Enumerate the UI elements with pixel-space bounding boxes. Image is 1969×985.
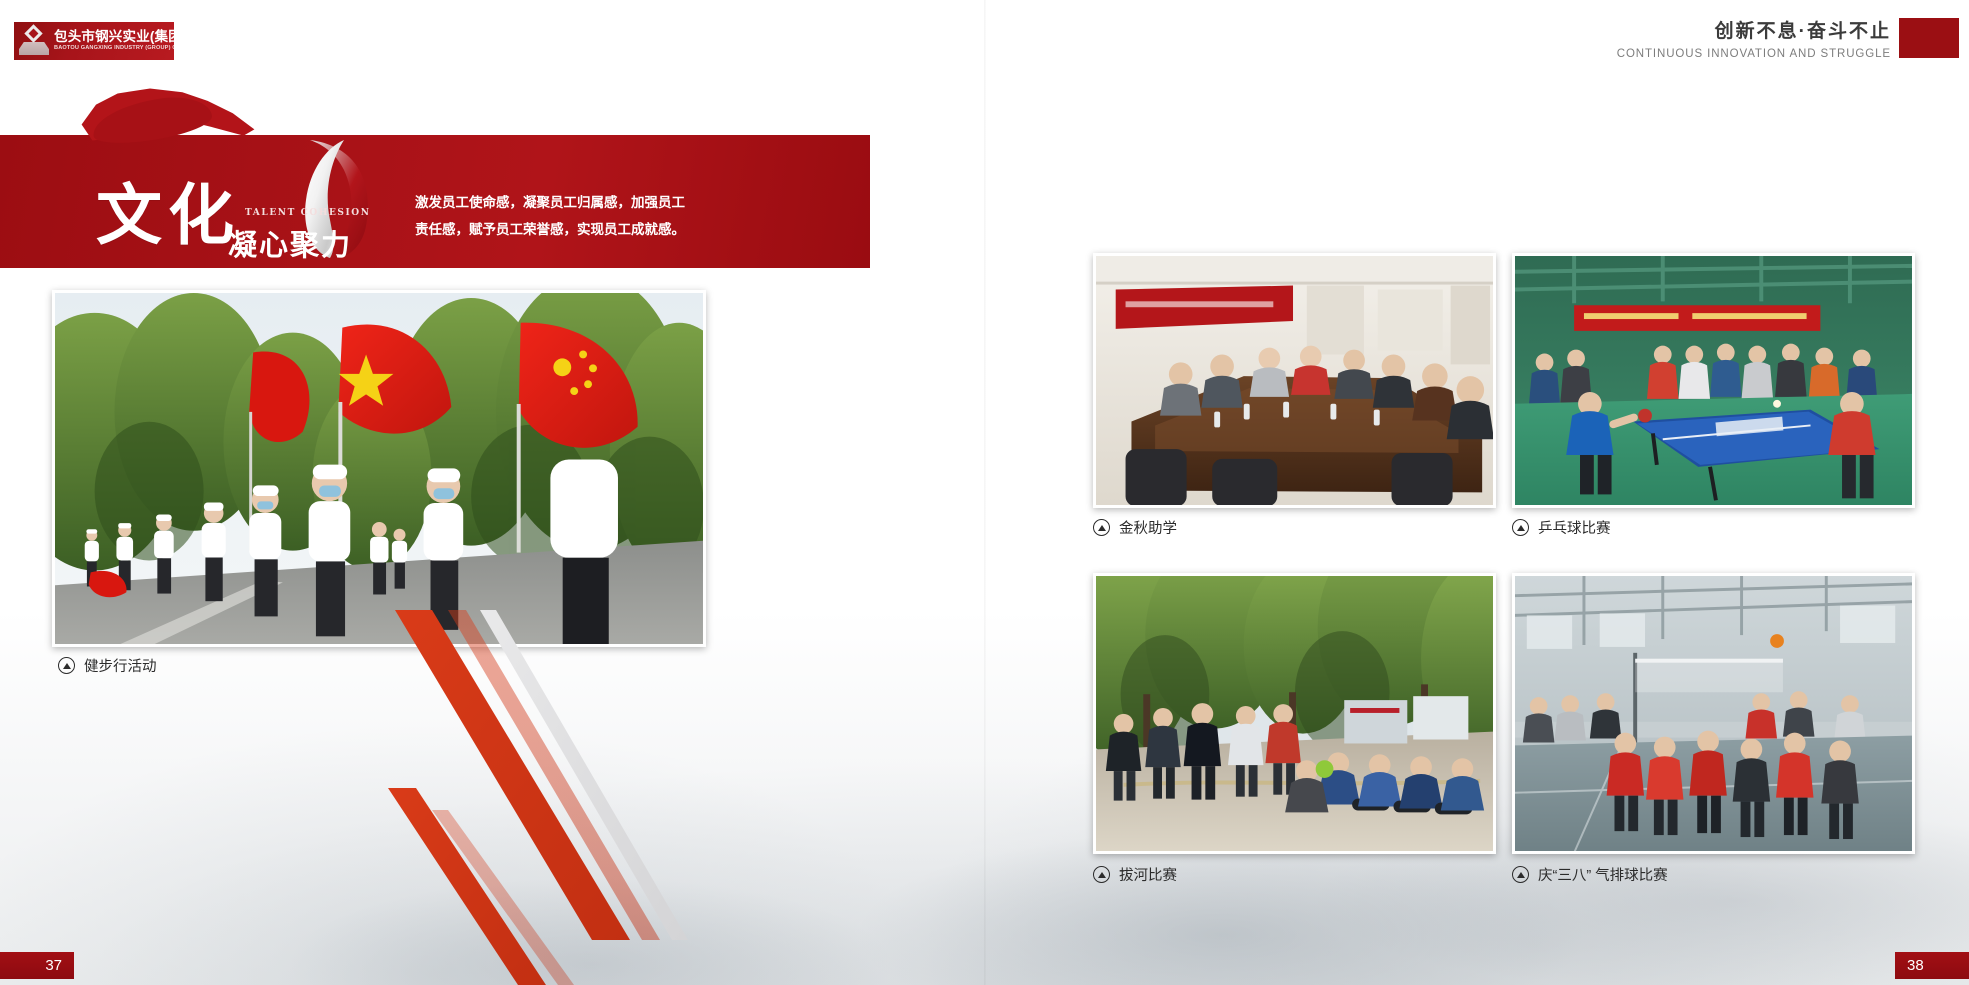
caption-text: 拔河比赛 — [1119, 864, 1177, 885]
header-slogan: 创新不息·奋斗不止 CONTINUOUS INNOVATION AND STRU… — [1617, 16, 1891, 60]
diamond-logo-icon — [14, 22, 54, 60]
logo-company-name-en: BAOTOU GANGXING INDUSTRY (GROUP) CO., LT… — [54, 46, 174, 52]
page-number-left-text: 37 — [45, 957, 62, 974]
photo-walking-event — [52, 290, 706, 647]
caption-text: 乒乓球比赛 — [1538, 517, 1611, 538]
banner-subtitle: 凝心聚力 — [228, 222, 352, 264]
photo-volleyball — [1512, 573, 1915, 854]
caption-arrow-icon — [1093, 866, 1110, 883]
photo-table-tennis — [1512, 253, 1915, 508]
caption-table-tennis: 乒乓球比赛 — [1512, 517, 1611, 538]
caption-arrow-icon — [1512, 866, 1529, 883]
caption-arrow-icon — [1512, 519, 1529, 536]
caption-text: 健步行活动 — [84, 655, 157, 676]
caption-tug-of-war: 拔河比赛 — [1093, 864, 1177, 885]
caption-autumn-scholarship: 金秋助学 — [1093, 517, 1177, 538]
page-fold-seam — [984, 0, 986, 985]
header-red-block — [1899, 18, 1959, 58]
logo-company-name-cn: 包头市钢兴实业(集团)有限公司 — [54, 30, 174, 44]
page-number-right-text: 38 — [1907, 957, 1924, 974]
banner-title: 文化 — [96, 182, 240, 248]
caption-text: 金秋助学 — [1119, 517, 1177, 538]
slogan-text-en: CONTINUOUS INNOVATION AND STRUGGLE — [1617, 48, 1891, 60]
slogan-text-cn: 创新不息·奋斗不止 — [1617, 16, 1891, 43]
caption-arrow-icon — [1093, 519, 1110, 536]
photo-autumn-scholarship — [1093, 253, 1496, 508]
banner-description: 激发员工使命感，凝聚员工归属感，加强员工责任感，赋予员工荣誉感，实现员工成就感。 — [415, 190, 685, 244]
caption-volleyball: 庆“三八” 气排球比赛 — [1512, 864, 1668, 885]
caption-walking-event: 健步行活动 — [58, 655, 157, 676]
caption-arrow-icon — [58, 657, 75, 674]
page-number-right: 38 — [1895, 952, 1969, 979]
company-logo: 包头市钢兴实业(集团)有限公司 BAOTOU GANGXING INDUSTRY… — [14, 22, 174, 60]
photo-tug-of-war — [1093, 573, 1496, 854]
banner-title-en: TALENT COHESION — [245, 208, 371, 218]
caption-text: 庆“三八” 气排球比赛 — [1538, 864, 1668, 885]
diagonal-stripes-decoration — [330, 610, 750, 985]
page-number-left: 37 — [0, 952, 74, 979]
